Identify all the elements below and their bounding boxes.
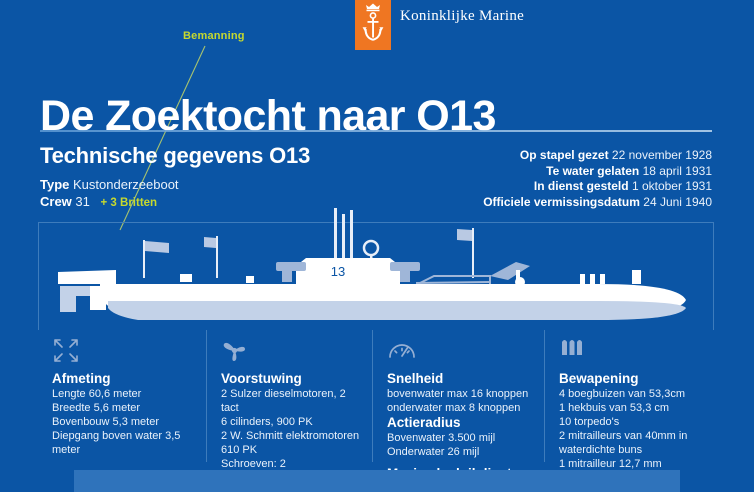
spec-line: 2 W. Schmitt elektromotoren: [221, 429, 362, 443]
bow-deck: [58, 270, 116, 284]
spec-line: 10 torpedo's: [559, 415, 706, 429]
date-label: Op stapel gezet: [520, 148, 609, 162]
date-label: Te water gelaten: [546, 164, 639, 178]
spec-column-bewapening: Bewapening 4 boegbuizen van 53,3cm 1 hek…: [544, 330, 716, 462]
spec-line: bovenwater max 16 knoppen: [387, 387, 534, 401]
spec-line: Breedte 5,6 meter: [52, 401, 196, 415]
spec-line: Bovenwater 3.500 mijl: [387, 431, 534, 445]
koninklijke-marine-logo: [355, 0, 391, 50]
spec-columns: Afmeting Lengte 60,6 meter Breedte 5,6 m…: [38, 330, 716, 462]
bottom-bar: [74, 470, 680, 492]
spec-line: Bovenbouw 5,3 meter: [52, 415, 196, 429]
spec-line: onderwater max 8 knoppen: [387, 401, 534, 415]
hull-number: 13: [331, 264, 345, 279]
date-row: In dienst gesteld 1 oktober 1931: [483, 179, 712, 195]
date-value: 22 november 1928: [612, 148, 712, 162]
date-row: Te water gelaten 18 april 1931: [483, 164, 712, 180]
spec-line: Schroeven: 2: [221, 457, 362, 471]
torpedoes-icon: [559, 338, 589, 364]
propeller-icon: [221, 338, 249, 364]
brand-name: Koninklijke Marine: [400, 8, 524, 25]
callout-label-bemanning: Bemanning: [183, 30, 245, 42]
spec-heading: Snelheid: [387, 371, 534, 386]
spec-heading: Voorstuwing: [221, 371, 362, 386]
hull-shadow: [108, 301, 686, 320]
crown-anchor-icon: [358, 2, 388, 48]
submarine-illustration: 13: [38, 200, 714, 335]
date-value: 1 oktober 1931: [632, 179, 712, 193]
spec-heading: Afmeting: [52, 371, 196, 386]
spec-column-snelheid: Snelheid bovenwater max 16 knoppen onder…: [372, 330, 544, 462]
spec-line: 1 hekbuis van 53,3 cm: [559, 401, 706, 415]
date-label: In dienst gesteld: [534, 179, 629, 193]
infographic-page: Koninklijke Marine Bemanning De Zoektoch…: [0, 0, 754, 492]
spec-column-afmeting: Afmeting Lengte 60,6 meter Breedte 5,6 m…: [38, 330, 206, 462]
spec-line: Lengte 60,6 meter: [52, 387, 196, 401]
tech-heading: Technische gegevens O13: [40, 143, 310, 169]
periscope-icon: [334, 208, 378, 266]
date-row: Op stapel gezet 22 november 1928: [483, 148, 712, 164]
spec-line: 1 mitrailleur 12,7 mm: [559, 457, 706, 471]
tech-row-key: Type: [40, 177, 69, 192]
tech-row-value: Kustonderzeeboot: [73, 177, 179, 192]
speedometer-icon: [387, 338, 417, 364]
spec-column-voortstuwing: Voorstuwing 2 Sulzer dieselmotoren, 2 ta…: [206, 330, 372, 462]
spec-line: Diepgang boven water 3,5 meter: [52, 429, 196, 457]
resize-arrows-icon: [52, 338, 80, 364]
spec-line: 6 cilinders, 900 PK: [221, 415, 362, 429]
conning-tower: [306, 258, 390, 286]
bow-lower: [60, 286, 90, 312]
header-divider: [40, 130, 712, 132]
spec-line: 610 PK: [221, 443, 362, 457]
tech-row: Type Kustonderzeeboot: [40, 176, 179, 193]
spec-heading: Bewapening: [559, 371, 706, 386]
date-value: 18 april 1931: [643, 164, 712, 178]
spec-line: Onderwater 26 mijl: [387, 445, 534, 459]
spec-line: 2 Sulzer dieselmotoren, 2 tact: [221, 387, 362, 415]
spec-heading-2: Actieradius: [387, 415, 534, 430]
spec-line: waterdichte buns: [559, 443, 706, 457]
spec-line: 2 mitrailleurs van 40mm in: [559, 429, 706, 443]
spec-line: 4 boegbuizen van 53,3cm: [559, 387, 706, 401]
